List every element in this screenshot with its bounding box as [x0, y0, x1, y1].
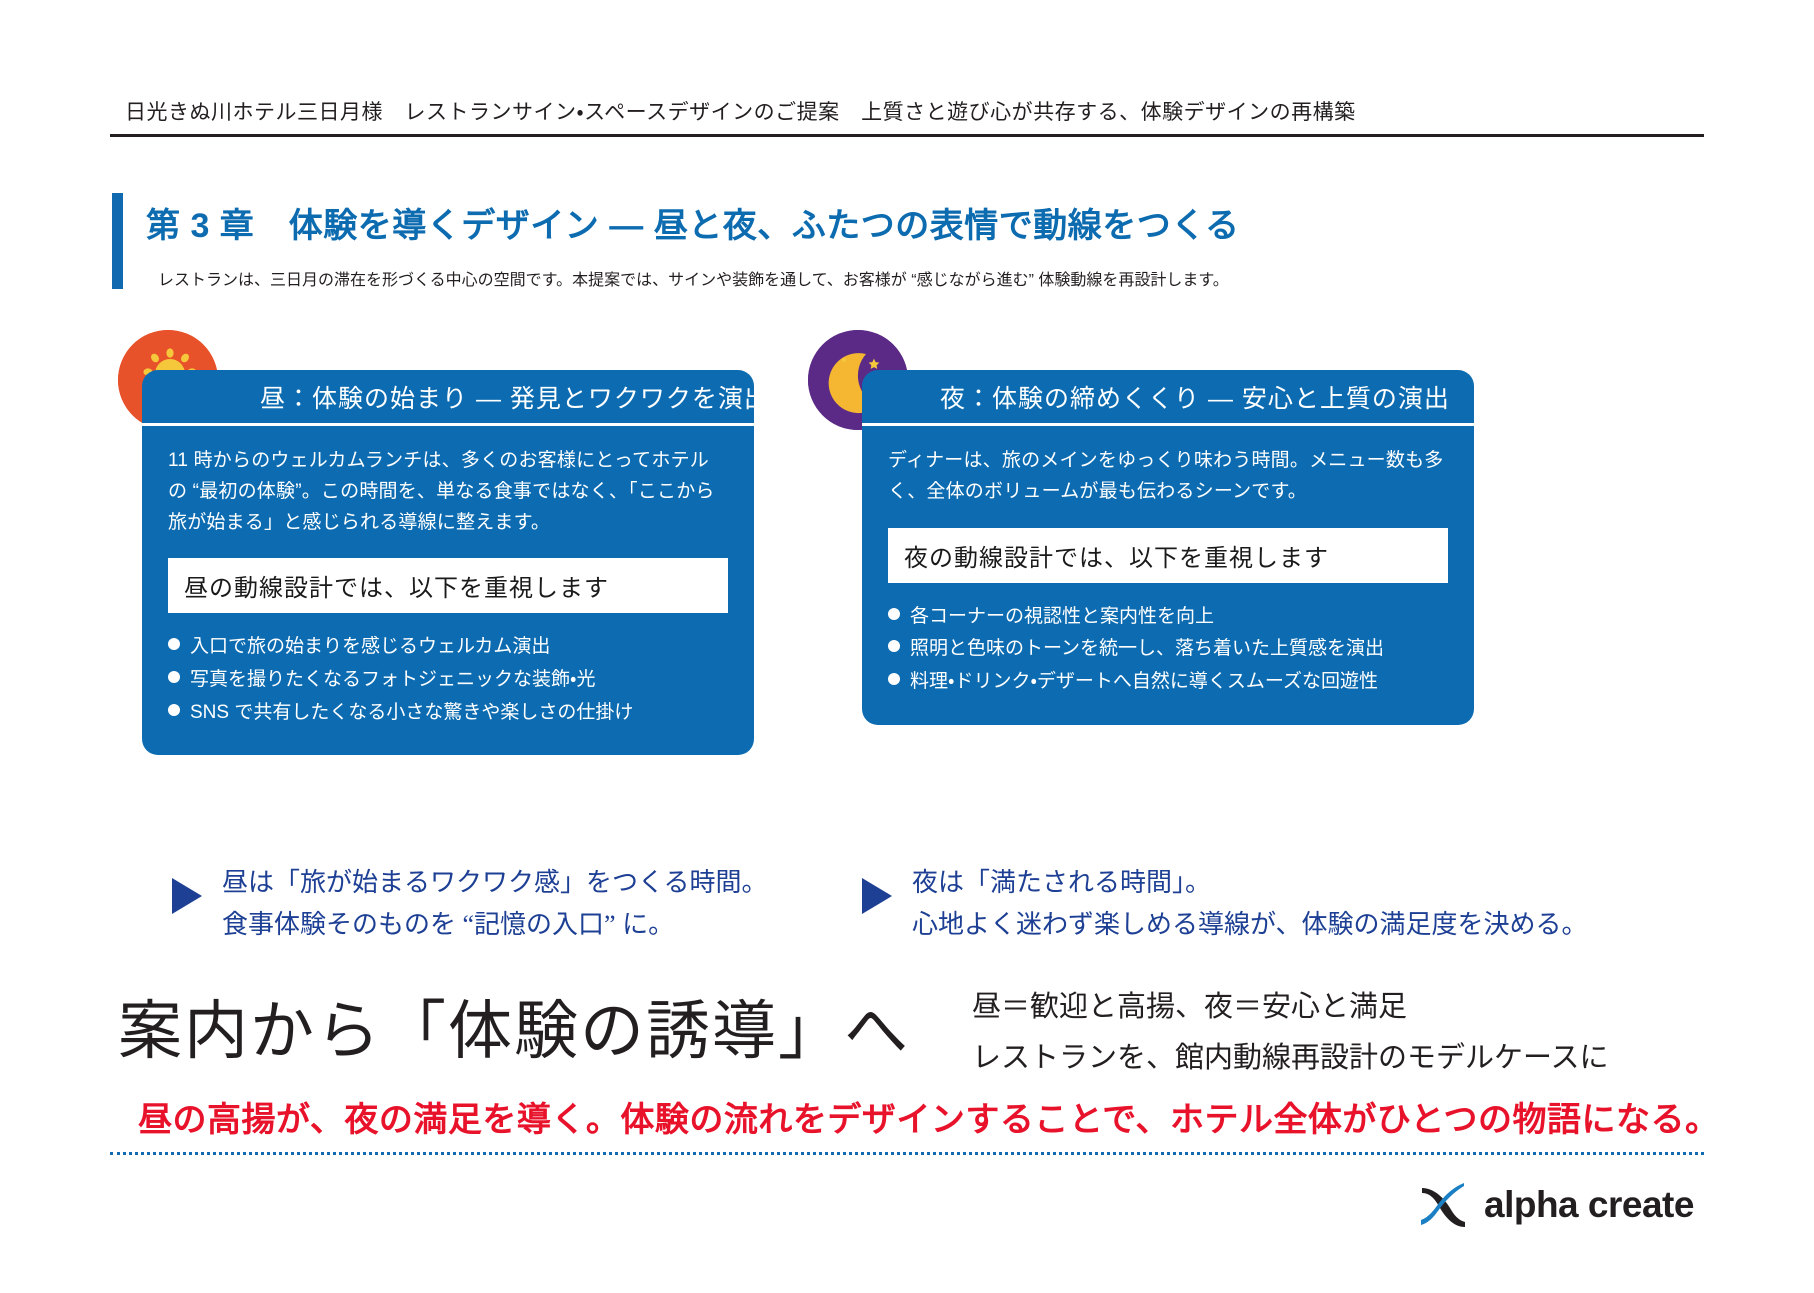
day-card-body: 11 時からのウェルカムランチは、多くのお客様にとってホテルの “最初の体験”。…: [142, 426, 754, 755]
bullet-dot-icon: [888, 640, 900, 652]
day-takeaway-line1: 昼は「旅が始まるワクワク感」をつくる時間。: [222, 862, 767, 904]
list-item: 写真を撮りたくなるフォトジェニックな装飾・光: [168, 664, 728, 697]
day-card-header: 昼：体験の始まり ― 発見とワクワクを演出: [142, 370, 754, 426]
side-note-line2: レストランを、館内動線再設計のモデルケースに: [972, 1033, 1609, 1084]
day-takeaway: 昼は「旅が始まるワクワク感」をつくる時間。 食事体験そのものを “記憶の入口” …: [172, 862, 767, 946]
side-note: 昼＝歓迎と高揚、夜＝安心と満足 レストランを、館内動線再設計のモデルケースに: [972, 982, 1609, 1084]
list-item: 照明と色味のトーンを統一し、落ち着いた上質感を演出: [888, 633, 1448, 666]
day-callout-box: 昼の動線設計では、以下を重視します: [168, 558, 728, 613]
day-takeaway-text: 昼は「旅が始まるワクワク感」をつくる時間。 食事体験そのものを “記憶の入口” …: [222, 862, 767, 946]
side-note-line1: 昼＝歓迎と高揚、夜＝安心と満足: [972, 982, 1609, 1033]
night-takeaway-line2: 心地よく迷わず楽しめる導線が、体験の満足度を決める。: [912, 904, 1587, 946]
list-item-label: SNS で共有したくなる小さな驚きや楽しさの仕掛け: [190, 697, 633, 730]
day-callout-text: 昼の動線設計では、以下を重視します: [184, 568, 712, 603]
footer-dotted-divider: [110, 1152, 1704, 1155]
bullet-dot-icon: [888, 673, 900, 685]
list-item: SNS で共有したくなる小さな驚きや楽しさの仕掛け: [168, 697, 728, 730]
bullet-dot-icon: [168, 671, 180, 683]
list-item-label: 写真を撮りたくなるフォトジェニックな装飾・光: [190, 664, 595, 697]
list-item-label: 各コーナーの視認性と案内性を向上: [910, 601, 1214, 634]
bullet-dot-icon: [168, 704, 180, 716]
night-takeaway-line1: 夜は「満たされる時間」。: [912, 862, 1587, 904]
triangle-marker-icon: [172, 878, 202, 914]
night-card-header: 夜：体験の締めくくり ― 安心と上質の演出: [862, 370, 1474, 426]
night-card-body: ディナーは、旅のメインをゆっくり味わう時間。メニュー数も多く、全体のボリュームが…: [862, 426, 1474, 725]
bullet-dot-icon: [888, 608, 900, 620]
day-bullet-list: 入口で旅の始まりを感じるウェルカム演出 写真を撮りたくなるフォトジェニックな装飾…: [168, 631, 728, 729]
logo-text: alpha create: [1484, 1184, 1694, 1226]
day-card: 昼：体験の始まり ― 発見とワクワクを演出 11 時からのウェルカムランチは、多…: [142, 370, 754, 755]
chapter-accent-bar: [112, 193, 123, 289]
alpha-mark-icon: [1418, 1182, 1470, 1228]
page-title: 第 3 章 体験を導くデザイン ― 昼と夜、ふたつの表情で動線をつくる: [146, 198, 1240, 247]
list-item-label: 照明と色味のトーンを統一し、落ち着いた上質感を演出: [910, 633, 1384, 666]
triangle-marker-icon: [862, 878, 892, 914]
list-item: 料理・ドリンク・デザートへ自然に導くスムーズな回遊性: [888, 666, 1448, 699]
day-card-title: 昼：体験の始まり ― 発見とワクワクを演出: [142, 379, 770, 415]
list-item-label: 料理・ドリンク・デザートへ自然に導くスムーズな回遊性: [910, 666, 1378, 699]
list-item: 入口で旅の始まりを感じるウェルカム演出: [168, 631, 728, 664]
red-statement: 昼の高揚が、夜の満足を導く。体験の流れをデザインすることで、ホテル全体がひとつの…: [138, 1092, 1720, 1141]
chapter-description: レストランは、三日月の滞在を形づくる中心の空間です。本提案では、サインや装飾を通…: [158, 266, 1229, 290]
night-bullet-list: 各コーナーの視認性と案内性を向上 照明と色味のトーンを統一し、落ち着いた上質感を…: [888, 601, 1448, 699]
day-takeaway-line2: 食事体験そのものを “記憶の入口” に。: [222, 904, 767, 946]
logo: alpha create: [1418, 1182, 1694, 1228]
night-callout-box: 夜の動線設計では、以下を重視します: [888, 528, 1448, 583]
night-takeaway: 夜は「満たされる時間」。 心地よく迷わず楽しめる導線が、体験の満足度を決める。: [862, 862, 1587, 946]
big-statement: 案内から「体験の誘導」へ: [118, 980, 910, 1072]
slide-header-text: 日光きぬ川ホテル三日月様 レストランサイン・スペースデザインのご提案 上質さと遊…: [125, 96, 1356, 126]
night-callout-text: 夜の動線設計では、以下を重視します: [904, 538, 1432, 573]
bullet-dot-icon: [168, 638, 180, 650]
night-card: 夜：体験の締めくくり ― 安心と上質の演出 ディナーは、旅のメインをゆっくり味わ…: [862, 370, 1474, 725]
slide-root: 日光きぬ川ホテル三日月様 レストランサイン・スペースデザインのご提案 上質さと遊…: [0, 0, 1814, 1293]
list-item: 各コーナーの視認性と案内性を向上: [888, 601, 1448, 634]
night-card-paragraph: ディナーは、旅のメインをゆっくり味わう時間。メニュー数も多く、全体のボリュームが…: [888, 446, 1448, 508]
night-takeaway-text: 夜は「満たされる時間」。 心地よく迷わず楽しめる導線が、体験の満足度を決める。: [912, 862, 1587, 946]
day-card-paragraph: 11 時からのウェルカムランチは、多くのお客様にとってホテルの “最初の体験”。…: [168, 446, 728, 538]
night-card-title: 夜：体験の締めくくり ― 安心と上質の演出: [862, 379, 1450, 415]
header-divider: [110, 134, 1704, 137]
list-item-label: 入口で旅の始まりを感じるウェルカム演出: [190, 631, 550, 664]
